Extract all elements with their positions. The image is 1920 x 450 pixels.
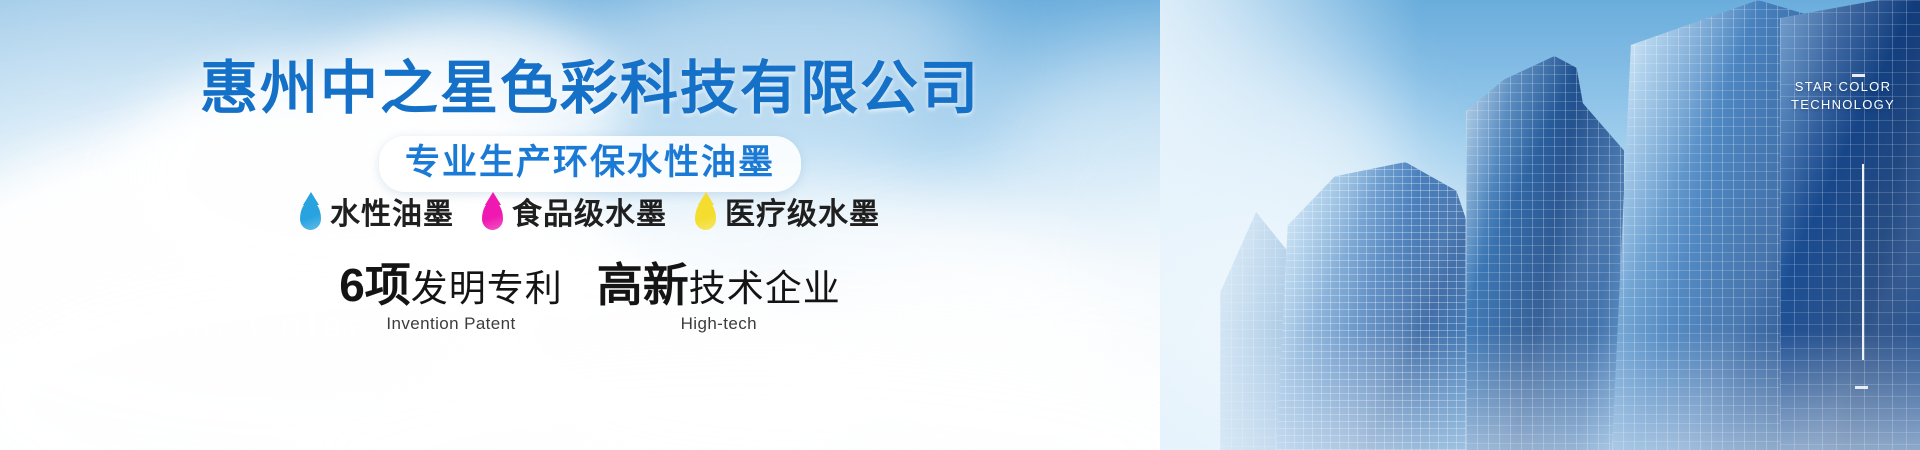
badge-strong-text: 6项 <box>339 259 411 311</box>
feature-label: 医疗级水墨 <box>725 198 880 232</box>
signage-vertical-rule <box>1862 164 1864 360</box>
banner-content: 惠州中之星色彩科技有限公司 专业生产环保水性油墨 水性油墨 食品级水墨 医疗级水… <box>0 0 1180 450</box>
water-drop-icon <box>300 201 321 230</box>
feature-label: 食品级水墨 <box>512 198 667 232</box>
company-name-heading: 惠州中之星色彩科技有限公司 <box>0 58 1180 120</box>
feature-item: 水性油墨 <box>300 198 454 232</box>
badge-title: 高新技术企业 <box>597 262 841 312</box>
signage-dash-bottom <box>1855 386 1868 389</box>
credential-badges: 6项发明专利 Invention Patent 高新技术企业 High-tech <box>0 262 1180 334</box>
building-curved-tower <box>1276 162 1472 450</box>
signage-dash-top <box>1852 74 1865 77</box>
badge-subtitle: Invention Patent <box>339 314 563 334</box>
badge-light-text: 技术企业 <box>689 268 841 309</box>
feature-list: 水性油墨 食品级水墨 医疗级水墨 <box>0 198 1180 232</box>
badge-item: 高新技术企业 High-tech <box>597 262 841 334</box>
badge-title: 6项发明专利 <box>339 262 563 312</box>
subtitle-pill: 专业生产环保水性油墨 <box>379 136 801 192</box>
badge-strong-text: 高新 <box>597 259 689 311</box>
water-drop-icon <box>482 201 503 230</box>
building-signage-tower <box>1780 0 1920 450</box>
promo-banner: Star Color STAR COLOR TECHNOLOGY 惠州中之星色彩… <box>0 0 1920 450</box>
water-drop-icon <box>695 201 716 230</box>
feature-item: 食品级水墨 <box>482 198 667 232</box>
building-slim-tower <box>1466 56 1624 450</box>
feature-item: 医疗级水墨 <box>695 198 880 232</box>
badge-light-text: 发明专利 <box>411 268 563 309</box>
signage-line-2: TECHNOLOGY <box>1782 96 1904 114</box>
badge-item: 6项发明专利 Invention Patent <box>339 262 563 334</box>
building-signage: STAR COLOR TECHNOLOGY <box>1782 78 1904 114</box>
subtitle-text: 专业生产环保水性油墨 <box>405 143 775 183</box>
badge-subtitle: High-tech <box>597 314 841 334</box>
feature-label: 水性油墨 <box>330 198 454 232</box>
city-skyline-image <box>1160 0 1920 450</box>
signage-line-1: STAR COLOR <box>1782 78 1904 96</box>
